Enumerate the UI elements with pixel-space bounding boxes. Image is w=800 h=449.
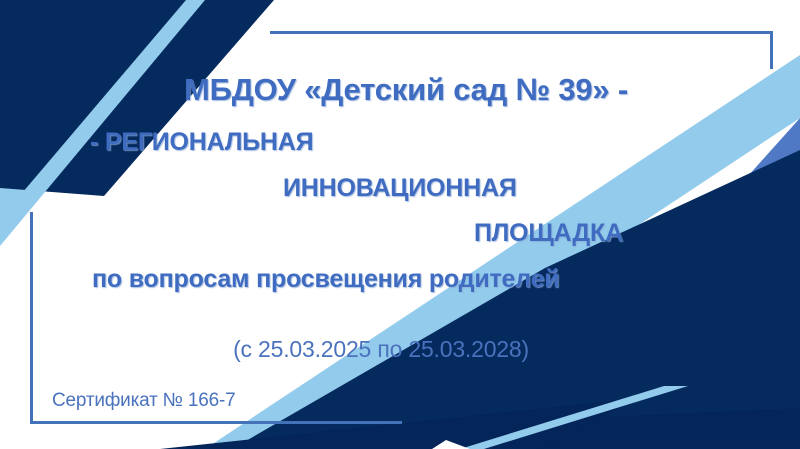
heading-line-platform: ПЛОЩАДКА — [474, 219, 623, 248]
date-range-text: (с 25.03.2025 по 25.03.2028) — [0, 336, 800, 363]
certificate-number-text: Сертификат № 166-7 — [52, 390, 236, 412]
heading-line-subject: по вопросам просвещения родителей — [92, 265, 559, 294]
certificate-slide: МБДОУ «Детский сад № 39» - - РЕГИОНАЛЬНА… — [0, 0, 800, 449]
heading-line-regional: - РЕГИОНАЛЬНАЯ — [90, 128, 313, 157]
heading-line-institution: МБДОУ «Детский сад № 39» - — [0, 72, 800, 108]
heading-line-innovation: ИННОВАЦИОННАЯ — [283, 174, 517, 203]
text-layer: МБДОУ «Детский сад № 39» - - РЕГИОНАЛЬНА… — [0, 0, 800, 449]
